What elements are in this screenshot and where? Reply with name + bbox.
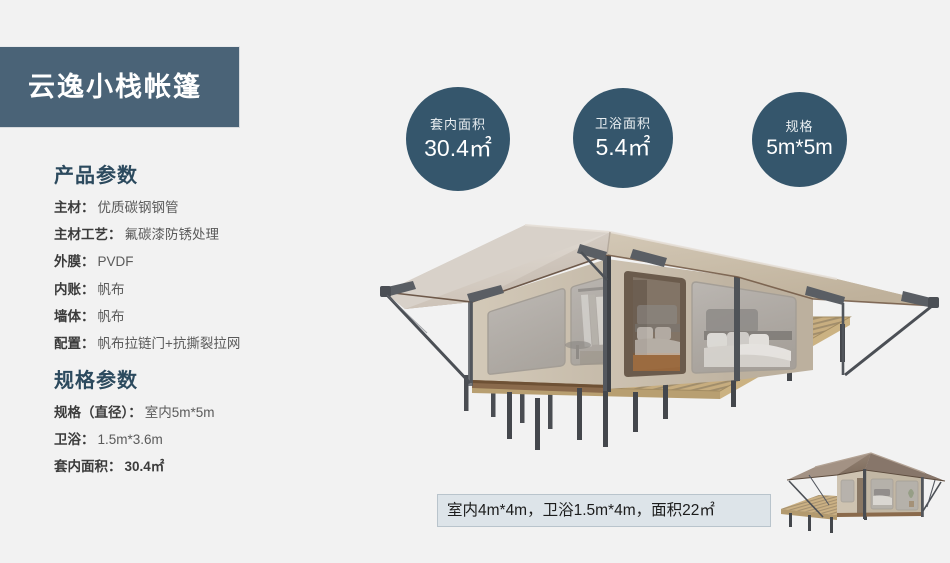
spec-row: 内账： 帆布: [54, 281, 354, 299]
spec-row: 主材工艺： 氟碳漆防锈处理: [54, 226, 354, 244]
spec-value: 帆布: [98, 308, 125, 326]
spec-value: 1.5m*3.6m: [98, 431, 163, 449]
stat-value: 5m*5m: [766, 137, 833, 159]
tent-thumbnail-svg: [775, 445, 950, 534]
stat-value: 30.4㎡: [424, 136, 492, 160]
spec-label: 配置：: [54, 335, 95, 353]
specification-parameters-list: 规格（直径）： 室内5m*5m 卫浴： 1.5m*3.6m 套内面积： 30.4…: [54, 404, 354, 477]
spec-label: 外膜：: [54, 253, 95, 271]
section-heading-specification: 规格参数: [54, 370, 354, 392]
interior-bed-secondary: [635, 305, 680, 355]
spec-value: 氟碳漆防锈处理: [125, 226, 220, 244]
product-parameters-list: 主材： 优质碳钢钢管 主材工艺： 氟碳漆防锈处理 外膜： PVDF 内账： 帆布…: [54, 199, 354, 353]
spec-row: 配置： 帆布拉链门+抗撕裂拉网: [54, 335, 354, 353]
tent-thumbnail-illustration: [775, 445, 950, 534]
spec-label: 主材工艺：: [54, 226, 122, 244]
spec-row: 套内面积： 30.4㎡: [54, 458, 354, 476]
spec-row: 规格（直径）： 室内5m*5m: [54, 404, 354, 422]
spec-label: 规格（直径）：: [54, 404, 142, 422]
section-heading-product: 产品参数: [54, 165, 354, 187]
spec-value: 帆布拉链门+抗撕裂拉网: [98, 335, 241, 353]
spec-row: 卫浴： 1.5m*3.6m: [54, 431, 354, 449]
spec-label: 套内面积：: [54, 458, 122, 476]
stat-circle-dimensions: 规格 5m*5m: [752, 92, 847, 187]
tent-right-window: [692, 282, 796, 373]
spec-label: 墙体：: [54, 308, 95, 326]
page-title-banner: 云逸小栈帐篷: [0, 46, 240, 128]
spec-value: 室内5m*5m: [145, 404, 215, 422]
product-parameters-section: 产品参数 主材： 优质碳钢钢管 主材工艺： 氟碳漆防锈处理 外膜： PVDF 内…: [54, 165, 354, 362]
caption-text: 室内4m*4m，卫浴1.5m*4m，面积22㎡: [447, 503, 715, 519]
spec-row: 外膜： PVDF: [54, 253, 354, 271]
spec-value: PVDF: [98, 253, 134, 271]
tent-wall-legs: [577, 388, 608, 447]
product-spec-page: 云逸小栈帐篷 产品参数 主材： 优质碳钢钢管 主材工艺： 氟碳漆防锈处理 外膜：…: [0, 0, 950, 534]
spec-row: 主材： 优质碳钢钢管: [54, 199, 354, 217]
spec-label: 内账：: [54, 281, 95, 299]
spec-row: 墙体： 帆布: [54, 308, 354, 326]
stat-circle-bathroom-area: 卫浴面积 5.4㎡: [573, 88, 673, 188]
spec-value: 帆布: [98, 281, 125, 299]
spec-value: 优质碳钢钢管: [98, 199, 179, 217]
stat-value: 5.4㎡: [596, 135, 651, 159]
page-title: 云逸小栈帐篷: [28, 74, 202, 101]
stat-label: 卫浴面积: [595, 117, 651, 131]
spec-label: 主材：: [54, 199, 95, 217]
caption-bar: 室内4m*4m，卫浴1.5m*4m，面积22㎡: [437, 494, 771, 527]
spec-label: 卫浴：: [54, 431, 95, 449]
spec-value: 30.4㎡: [125, 458, 165, 476]
stat-circle-interior-area: 套内面积 30.4㎡: [406, 87, 510, 191]
stat-label: 规格: [785, 120, 813, 134]
stat-label: 套内面积: [430, 118, 486, 132]
specification-parameters-section: 规格参数 规格（直径）： 室内5m*5m 卫浴： 1.5m*3.6m 套内面积：…: [54, 370, 354, 486]
